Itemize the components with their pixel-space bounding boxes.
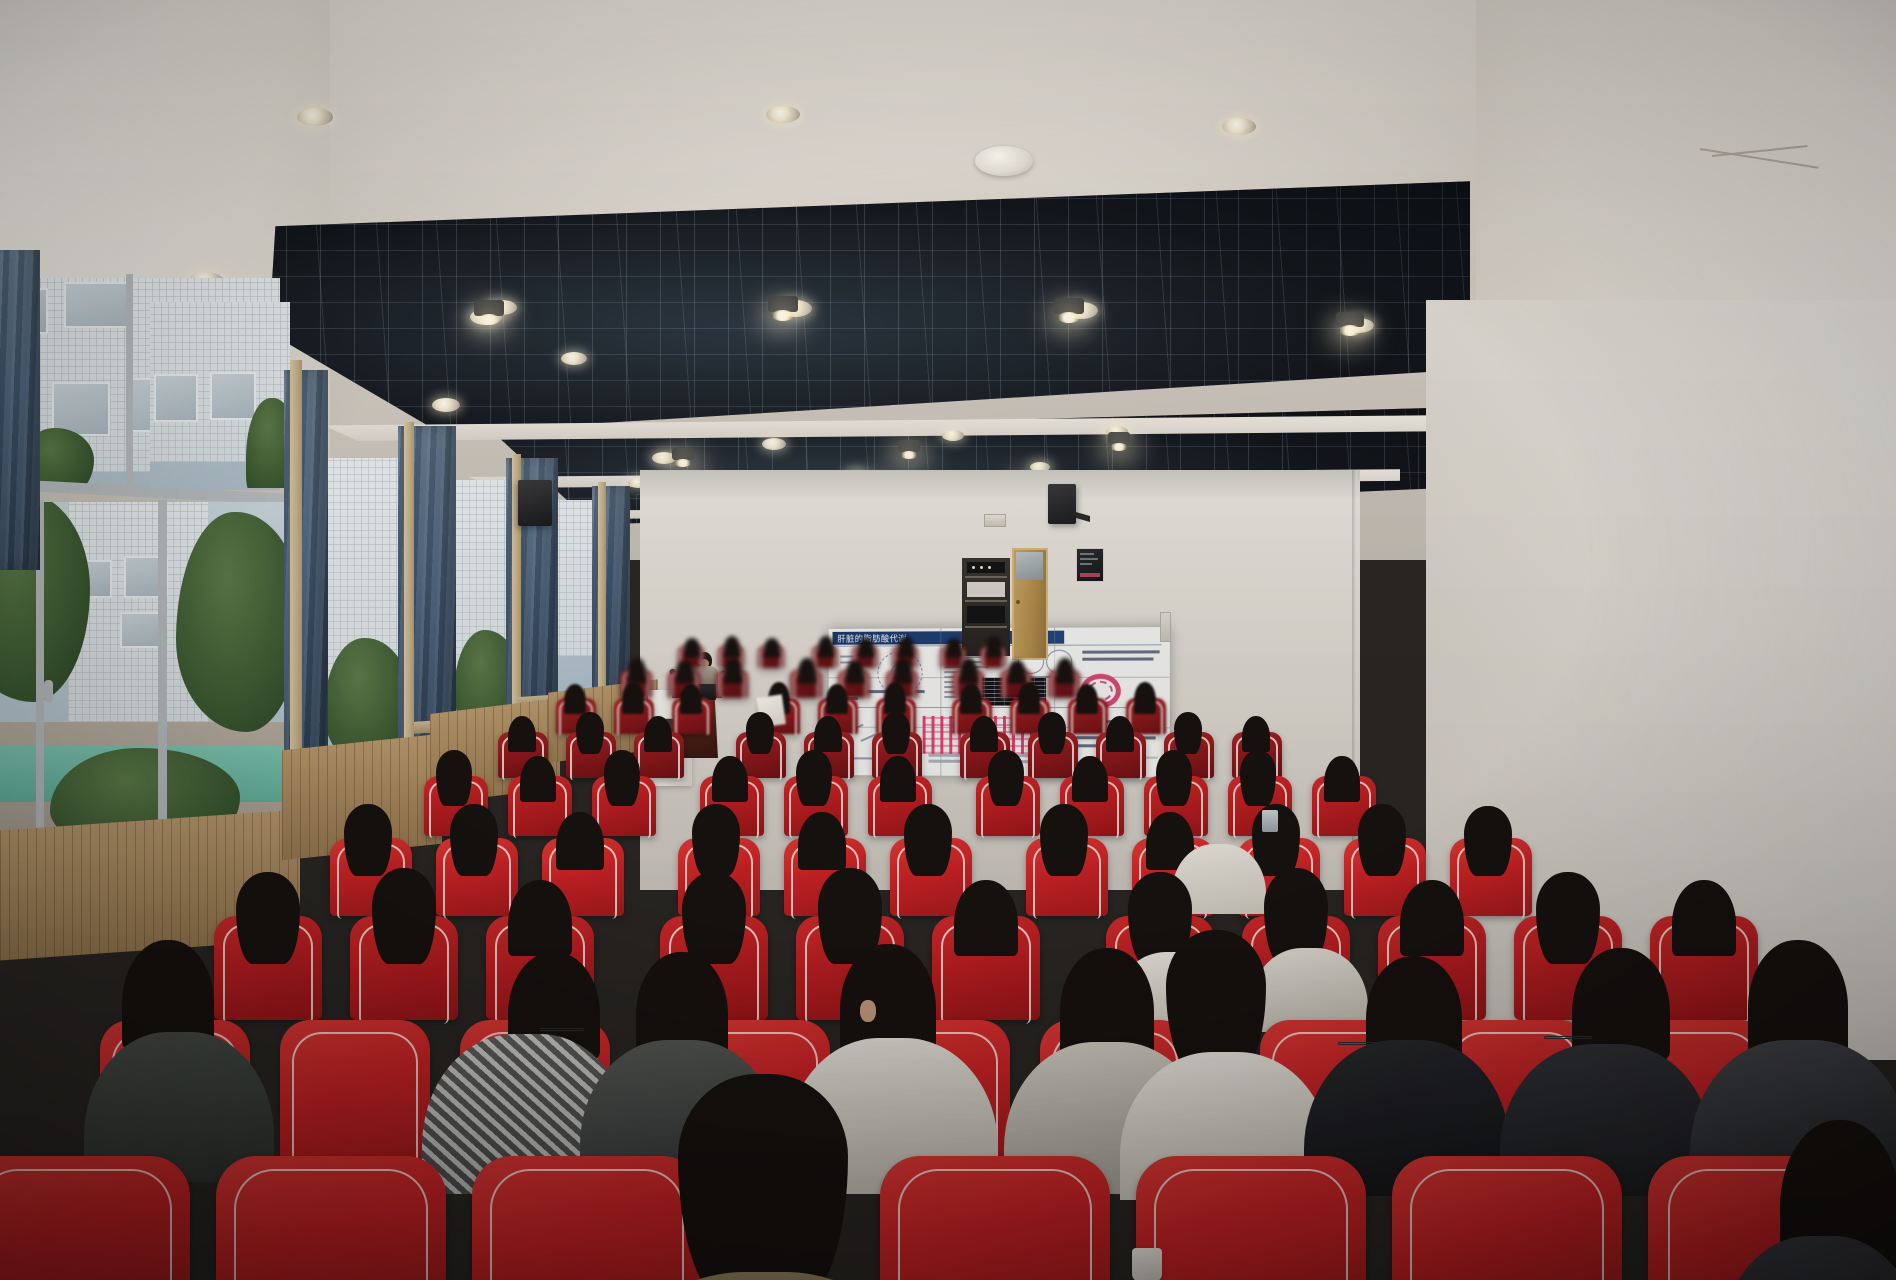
downlight-icon (942, 430, 964, 441)
window-mullion (126, 274, 133, 496)
attendee (894, 658, 912, 684)
attendee (1038, 712, 1066, 754)
attendee (372, 868, 436, 964)
door-window (1016, 552, 1043, 580)
rack-led (988, 566, 991, 569)
auditorium-seat[interactable] (880, 1156, 1110, 1280)
attendee (960, 658, 978, 684)
attendee (450, 804, 498, 876)
attendee (1008, 660, 1026, 684)
smoke-detector-icon (975, 146, 1033, 176)
auditorium-seat[interactable] (1392, 1156, 1622, 1280)
attendee (1076, 684, 1098, 714)
loudspeaker-icon (518, 480, 552, 526)
attendee (1400, 880, 1464, 956)
attendee (682, 872, 746, 964)
spotlight-icon (768, 296, 798, 312)
auditorium-seat[interactable] (280, 1020, 430, 1170)
attendee (644, 716, 672, 752)
attendee (678, 1074, 848, 1280)
attendee (988, 750, 1024, 806)
attendee (1174, 712, 1202, 754)
hair-clip (1262, 810, 1278, 832)
attendee (1324, 756, 1360, 802)
attendee (724, 658, 742, 684)
audience-seating (0, 600, 1896, 1280)
attendee (436, 750, 472, 806)
attendee (1672, 880, 1736, 956)
panel-text-line (1080, 563, 1092, 565)
attendee (1536, 872, 1600, 964)
attendee (1240, 750, 1276, 806)
attendee (564, 684, 586, 714)
spotlight-icon (1054, 298, 1084, 314)
attendee (826, 684, 848, 714)
attendee (622, 682, 644, 714)
rack-led (980, 566, 983, 569)
attendee (556, 812, 604, 870)
attendee (676, 660, 694, 684)
attendee (680, 684, 702, 714)
attendee (764, 638, 780, 658)
attendee (508, 716, 536, 752)
attendee (1358, 804, 1406, 876)
attendee (814, 716, 842, 752)
attendee (904, 804, 952, 876)
rack-led (972, 566, 975, 569)
attendee (946, 638, 962, 658)
attendee (986, 636, 1002, 658)
auditorium-seat[interactable] (472, 1156, 702, 1280)
attendee (344, 804, 392, 876)
auditorium-seat[interactable] (1136, 1156, 1366, 1280)
attendee (898, 636, 914, 658)
rack-equipment (967, 582, 1005, 597)
attendee (1106, 716, 1134, 752)
attendee (1072, 756, 1108, 802)
downlight-icon (297, 108, 333, 126)
attendee (576, 712, 604, 754)
attendee (796, 750, 832, 806)
attendee (880, 756, 916, 802)
front-wall-shadow (640, 470, 1360, 500)
attendee (236, 872, 300, 964)
attendee (818, 636, 834, 658)
eyeglasses-icon (540, 1028, 584, 1031)
attendee (724, 636, 740, 658)
attendee (1056, 658, 1074, 684)
eyeglasses-icon (1544, 1036, 1592, 1039)
attendee (508, 880, 572, 956)
attendee (1040, 804, 1088, 876)
panel-text-line (1080, 553, 1094, 555)
panel-indicator (1080, 573, 1100, 577)
attendee (1748, 940, 1848, 1056)
attendee (798, 658, 816, 684)
panel-text-line (1080, 558, 1098, 560)
attendee (692, 804, 740, 876)
exterior-window (64, 282, 130, 328)
attendee (846, 660, 864, 684)
attendee (712, 756, 748, 802)
auditorium-seat[interactable] (216, 1156, 446, 1280)
attendee (604, 750, 640, 806)
attendee (884, 682, 906, 714)
downlight-icon (762, 438, 786, 450)
attendee (684, 638, 700, 658)
attendee (1018, 682, 1040, 714)
attendee (970, 716, 998, 752)
downlight-icon (1222, 118, 1256, 135)
attendee (746, 712, 774, 754)
attendee (882, 712, 910, 754)
attendee (1166, 930, 1266, 1070)
drink-cup (1132, 1248, 1162, 1280)
spotlight-icon (898, 440, 920, 452)
attendee (960, 684, 982, 714)
curtain[interactable] (0, 250, 40, 570)
wall-control-panel[interactable] (1076, 548, 1104, 582)
exterior-window (210, 372, 256, 420)
attendee (628, 658, 646, 684)
attendee (520, 756, 556, 802)
rack-shelf (965, 576, 1007, 578)
spotlight-icon (1336, 312, 1364, 327)
attendee (1242, 716, 1270, 752)
auditorium-seat[interactable] (0, 1156, 190, 1280)
attendee (858, 638, 874, 658)
attendee (798, 812, 846, 870)
emergency-light-icon (984, 514, 1006, 527)
lecture-hall-photo: 肝脏的脂肪酸代谢 (0, 0, 1896, 1280)
window-pane (150, 302, 290, 488)
attendee (1464, 806, 1512, 876)
loudspeaker-icon (1048, 484, 1076, 524)
spotlight-icon (1108, 432, 1130, 444)
attendee-ear (860, 1000, 876, 1022)
attendee (954, 880, 1018, 956)
attendee (1134, 682, 1156, 714)
downlight-icon (766, 106, 800, 123)
attendee (1156, 750, 1192, 806)
exterior-window (154, 374, 198, 422)
